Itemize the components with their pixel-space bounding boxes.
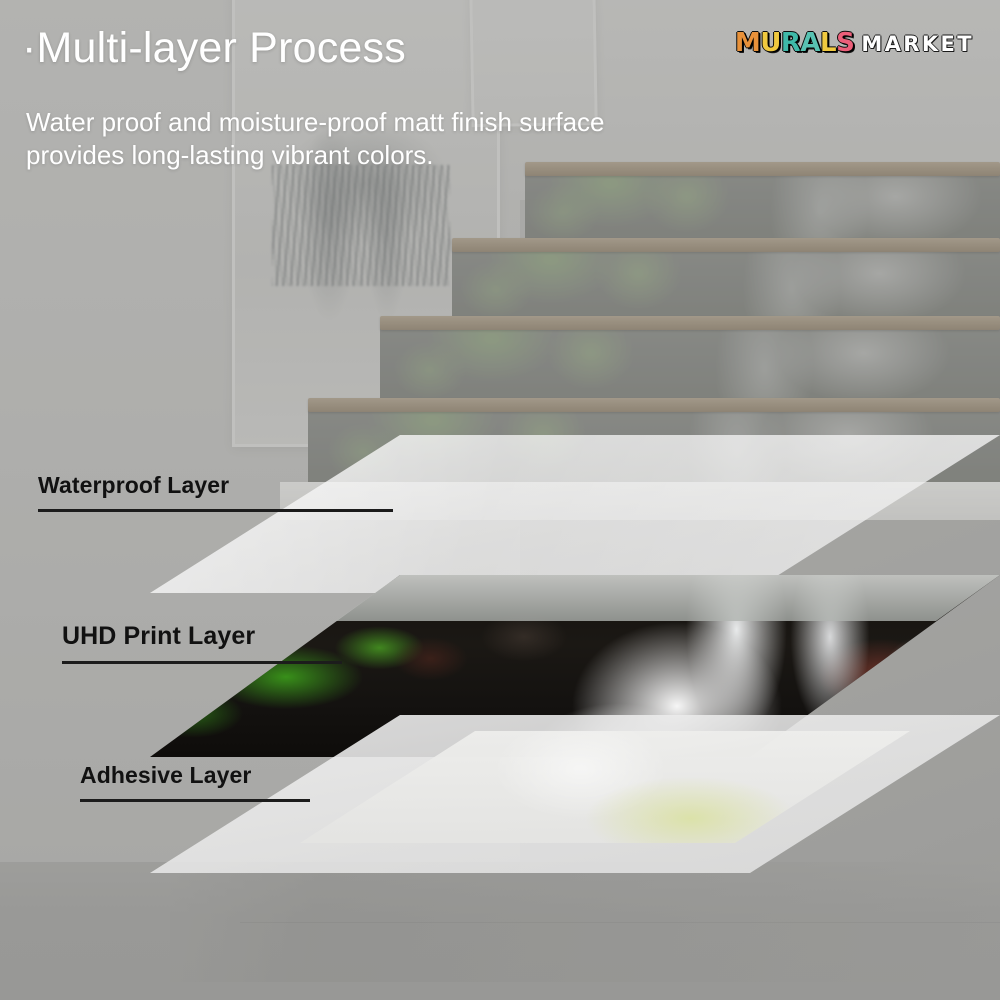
layer-sheet-waterproof [150, 435, 1000, 593]
brand-logo-murals: MURALS [735, 28, 854, 58]
callout-waterproof-layer: Waterproof Layer [38, 472, 393, 512]
brand-logo: MURALS MARKET [735, 28, 974, 58]
callout-rule-adhesive [80, 799, 310, 802]
callout-label-print: UHD Print Layer [62, 622, 342, 651]
layer-sheet-waterproof-sheen [150, 435, 1000, 593]
page-title: ·Multi-layer Process [22, 24, 406, 73]
callout-label-adhesive: Adhesive Layer [80, 762, 310, 789]
brand-logo-letter-l-4: L [820, 28, 836, 58]
brand-logo-market: MARKET [861, 32, 974, 56]
callout-rule-waterproof [38, 509, 393, 512]
page-title-text: Multi-layer Process [37, 24, 406, 72]
brand-logo-letter-u-1: U [760, 28, 781, 58]
infographic-canvas: Waterproof Layer UHD Print Layer Adhesiv… [0, 0, 1000, 1000]
page-subtitle-line-1: Water proof and moisture-proof matt fini… [26, 106, 605, 139]
callout-rule-print [62, 661, 342, 664]
brand-logo-letter-s-5: S [836, 28, 854, 58]
callout-print-layer: UHD Print Layer [62, 622, 342, 664]
layer-sheet-print-topband [150, 575, 1000, 621]
brand-logo-letter-m-0: M [735, 28, 760, 58]
brand-logo-letter-a-3: A [800, 28, 820, 58]
callout-label-waterproof: Waterproof Layer [38, 472, 393, 499]
page-subtitle-line-2: provides long-lasting vibrant colors. [26, 139, 605, 172]
page-title-bullet: · [22, 24, 37, 72]
brand-logo-letter-r-2: R [781, 28, 801, 58]
page-subtitle: Water proof and moisture-proof matt fini… [26, 106, 605, 173]
callout-adhesive-layer: Adhesive Layer [80, 762, 310, 802]
